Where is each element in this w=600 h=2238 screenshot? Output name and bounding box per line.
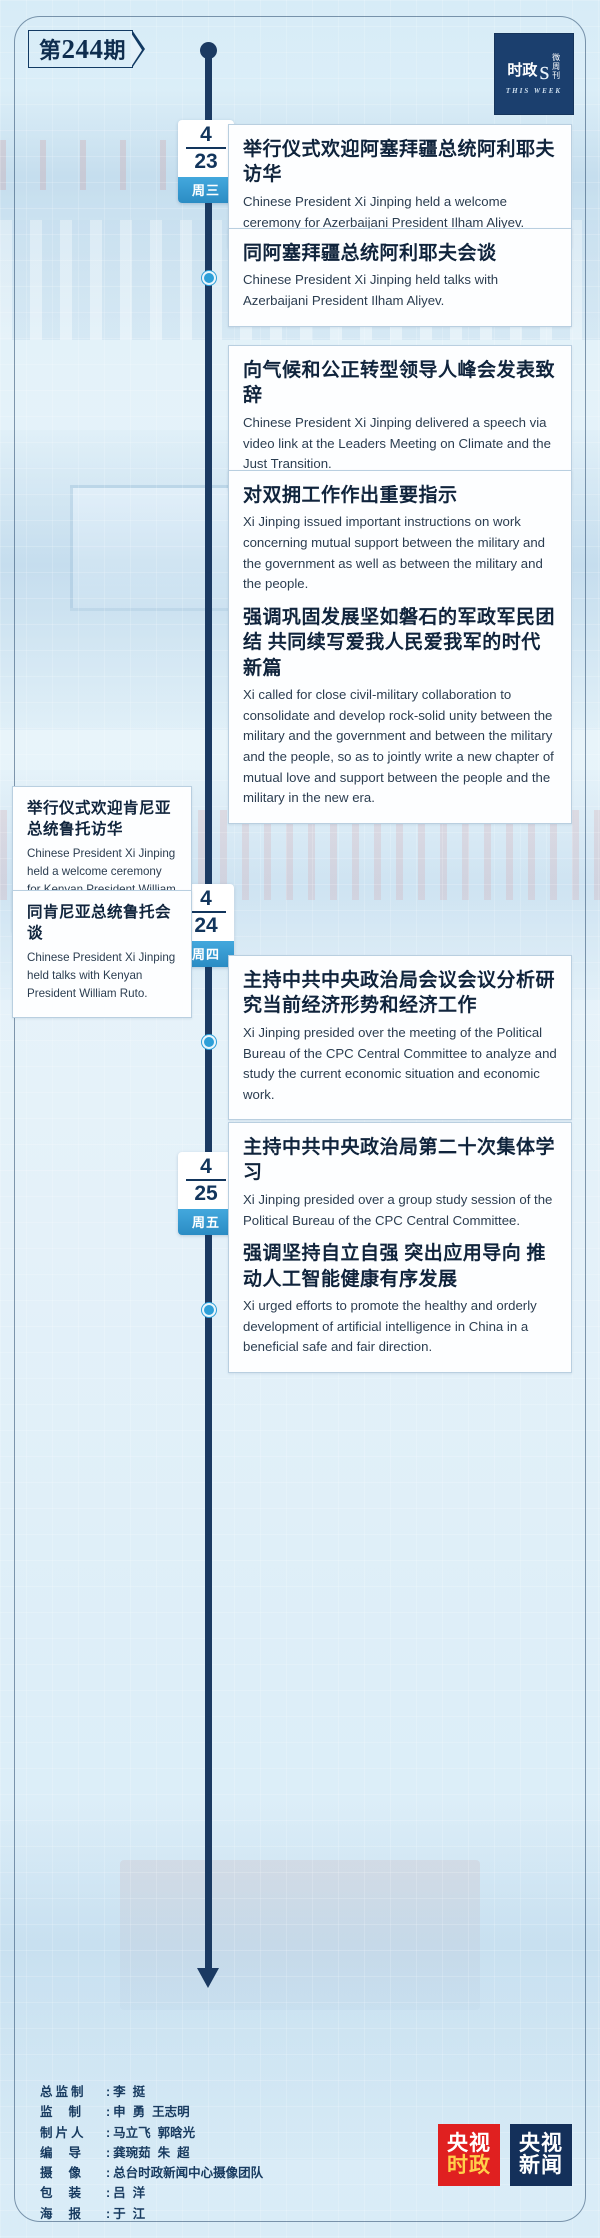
cctv-shizheng-line2: 时政: [447, 2155, 491, 2177]
credit-colon: :: [106, 2102, 110, 2122]
credit-row: 海 报:于 江: [40, 2204, 263, 2224]
credit-colon: :: [106, 2204, 110, 2224]
event-card: 向气候和公正转型领导人峰会发表致辞 Chinese President Xi J…: [228, 345, 572, 490]
date-weekday: 周三: [178, 177, 234, 203]
event-cn-title: 主持中共中央政治局会议会议分析研究当前经济形势和经济工作: [243, 968, 557, 1019]
logo-english-text: THIS WEEK: [506, 87, 562, 95]
event-cn-title: 举行仪式欢迎阿塞拜疆总统阿利耶夫访华: [243, 137, 557, 188]
event-card: 同阿塞拜疆总统阿利耶夫会谈 Chinese President Xi Jinpi…: [228, 228, 572, 327]
credit-row: 总监制:李 挺: [40, 2082, 263, 2102]
event-cn-title: 举行仪式欢迎肯尼亚总统鲁托访华: [27, 799, 177, 841]
date-day: 23: [178, 149, 234, 177]
cctv-news-logo[interactable]: 央视 新闻: [510, 2124, 572, 2186]
event-cn-title: 主持中共中央政治局第二十次集体学习: [243, 1135, 557, 1186]
date-day: 25: [178, 1181, 234, 1209]
credit-names: 申 勇 王志明: [113, 2102, 189, 2122]
event-en-body: Xi Jinping presided over a group study s…: [243, 1190, 557, 1231]
credit-role: 海 报: [40, 2204, 106, 2224]
timeline-node: [202, 271, 216, 285]
date-month: 4: [178, 120, 234, 147]
credit-row: 编 导:龚琬茹 朱 超: [40, 2143, 263, 2163]
credit-colon: :: [106, 2082, 110, 2102]
timeline-arrow-icon: [197, 1968, 219, 1988]
credit-colon: :: [106, 2123, 110, 2143]
event-en-body-secondary: Xi urged efforts to promote the healthy …: [243, 1296, 557, 1358]
credit-row: 包 装:吕 洋: [40, 2183, 263, 2203]
credit-role: 摄 像: [40, 2163, 106, 2183]
event-en-body: Chinese President Xi Jinping held a welc…: [243, 192, 557, 233]
credit-role: 总监制: [40, 2082, 106, 2102]
credit-colon: :: [106, 2163, 110, 2183]
event-cn-title: 对双拥工作作出重要指示: [243, 483, 557, 508]
credit-names: 马立飞 郭晗光: [113, 2123, 195, 2143]
logo-swoosh-icon: s: [539, 62, 549, 80]
event-cn-title: 同肯尼亚总统鲁托会谈: [27, 903, 177, 945]
timeline-node: [202, 1035, 216, 1049]
event-card: 对双拥工作作出重要指示 Xi Jinping issued important …: [228, 470, 572, 824]
poster-root: 第244期 时政 s 微周刊 THIS WEEK 4 23 周三 4 24 周四…: [0, 0, 600, 2238]
event-en-body: Chinese President Xi Jinping held talks …: [27, 949, 177, 1003]
credit-row: 制片人:马立飞 郭晗光: [40, 2123, 263, 2143]
event-cn-title-secondary: 强调巩固发展坚如磐石的军政军民团结 共同续写爱我人民爱我军的时代新篇: [243, 605, 557, 681]
credit-role: 制片人: [40, 2123, 106, 2143]
event-card: 同肯尼亚总统鲁托会谈 Chinese President Xi Jinping …: [12, 890, 192, 1018]
credit-names: 吕 洋: [113, 2183, 145, 2203]
credit-role: 编 导: [40, 2143, 106, 2163]
cctv-news-line1: 央视: [519, 2133, 563, 2155]
date-chip-0425: 4 25 周五: [178, 1152, 234, 1235]
event-cn-title: 向气候和公正转型领导人峰会发表致辞: [243, 358, 557, 409]
timeline-node: [202, 1303, 216, 1317]
event-en-body: Chinese President Xi Jinping held talks …: [243, 270, 557, 311]
event-card: 主持中共中央政治局会议会议分析研究当前经济形势和经济工作 Xi Jinping …: [228, 955, 572, 1120]
event-en-body-secondary: Xi called for close civil-military colla…: [243, 685, 557, 809]
footer-logo-group: 央视 时政 央视 新闻: [438, 2124, 572, 2186]
credit-colon: :: [106, 2143, 110, 2163]
date-month: 4: [178, 1152, 234, 1179]
credit-role: 监 制: [40, 2102, 106, 2122]
timeline-axis: [205, 46, 212, 1974]
event-en-body: Xi Jinping presided over the meeting of …: [243, 1023, 557, 1105]
issue-badge: 第244期: [28, 30, 133, 68]
cctv-shizheng-line1: 央视: [447, 2133, 491, 2155]
issue-badge-text: 第244期: [39, 33, 126, 65]
credit-names: 总台时政新闻中心摄像团队: [113, 2163, 263, 2183]
logo-side-text: 微周刊: [551, 53, 560, 80]
event-cn-title: 同阿塞拜疆总统阿利耶夫会谈: [243, 241, 557, 266]
credit-row: 监 制:申 勇 王志明: [40, 2102, 263, 2122]
date-weekday: 周五: [178, 1209, 234, 1235]
credits-block: 总监制:李 挺 监 制:申 勇 王志明 制片人:马立飞 郭晗光 编 导:龚琬茹 …: [40, 2082, 263, 2224]
event-en-body: Chinese President Xi Jinping delivered a…: [243, 413, 557, 475]
event-en-body: Xi Jinping issued important instructions…: [243, 512, 557, 594]
shizheng-weekly-logo: 时政 s 微周刊 THIS WEEK: [494, 33, 574, 115]
date-chip-0423: 4 23 周三: [178, 120, 234, 203]
credit-names: 龚琬茹 朱 超: [113, 2143, 189, 2163]
credit-names: 于 江: [113, 2204, 145, 2224]
credit-names: 李 挺: [113, 2082, 145, 2102]
credit-role: 包 装: [40, 2183, 106, 2203]
cctv-shizheng-logo[interactable]: 央视 时政: [438, 2124, 500, 2186]
logo-main-text: 时政: [507, 64, 537, 80]
event-cn-title-secondary: 强调坚持自立自强 突出应用导向 推动人工智能健康有序发展: [243, 1241, 557, 1292]
cctv-news-line2: 新闻: [519, 2155, 563, 2177]
credit-colon: :: [106, 2183, 110, 2203]
credit-row: 摄 像:总台时政新闻中心摄像团队: [40, 2163, 263, 2183]
logo-chinese-row: 时政 s 微周刊: [507, 53, 560, 80]
event-card: 主持中共中央政治局第二十次集体学习 Xi Jinping presided ov…: [228, 1122, 572, 1373]
